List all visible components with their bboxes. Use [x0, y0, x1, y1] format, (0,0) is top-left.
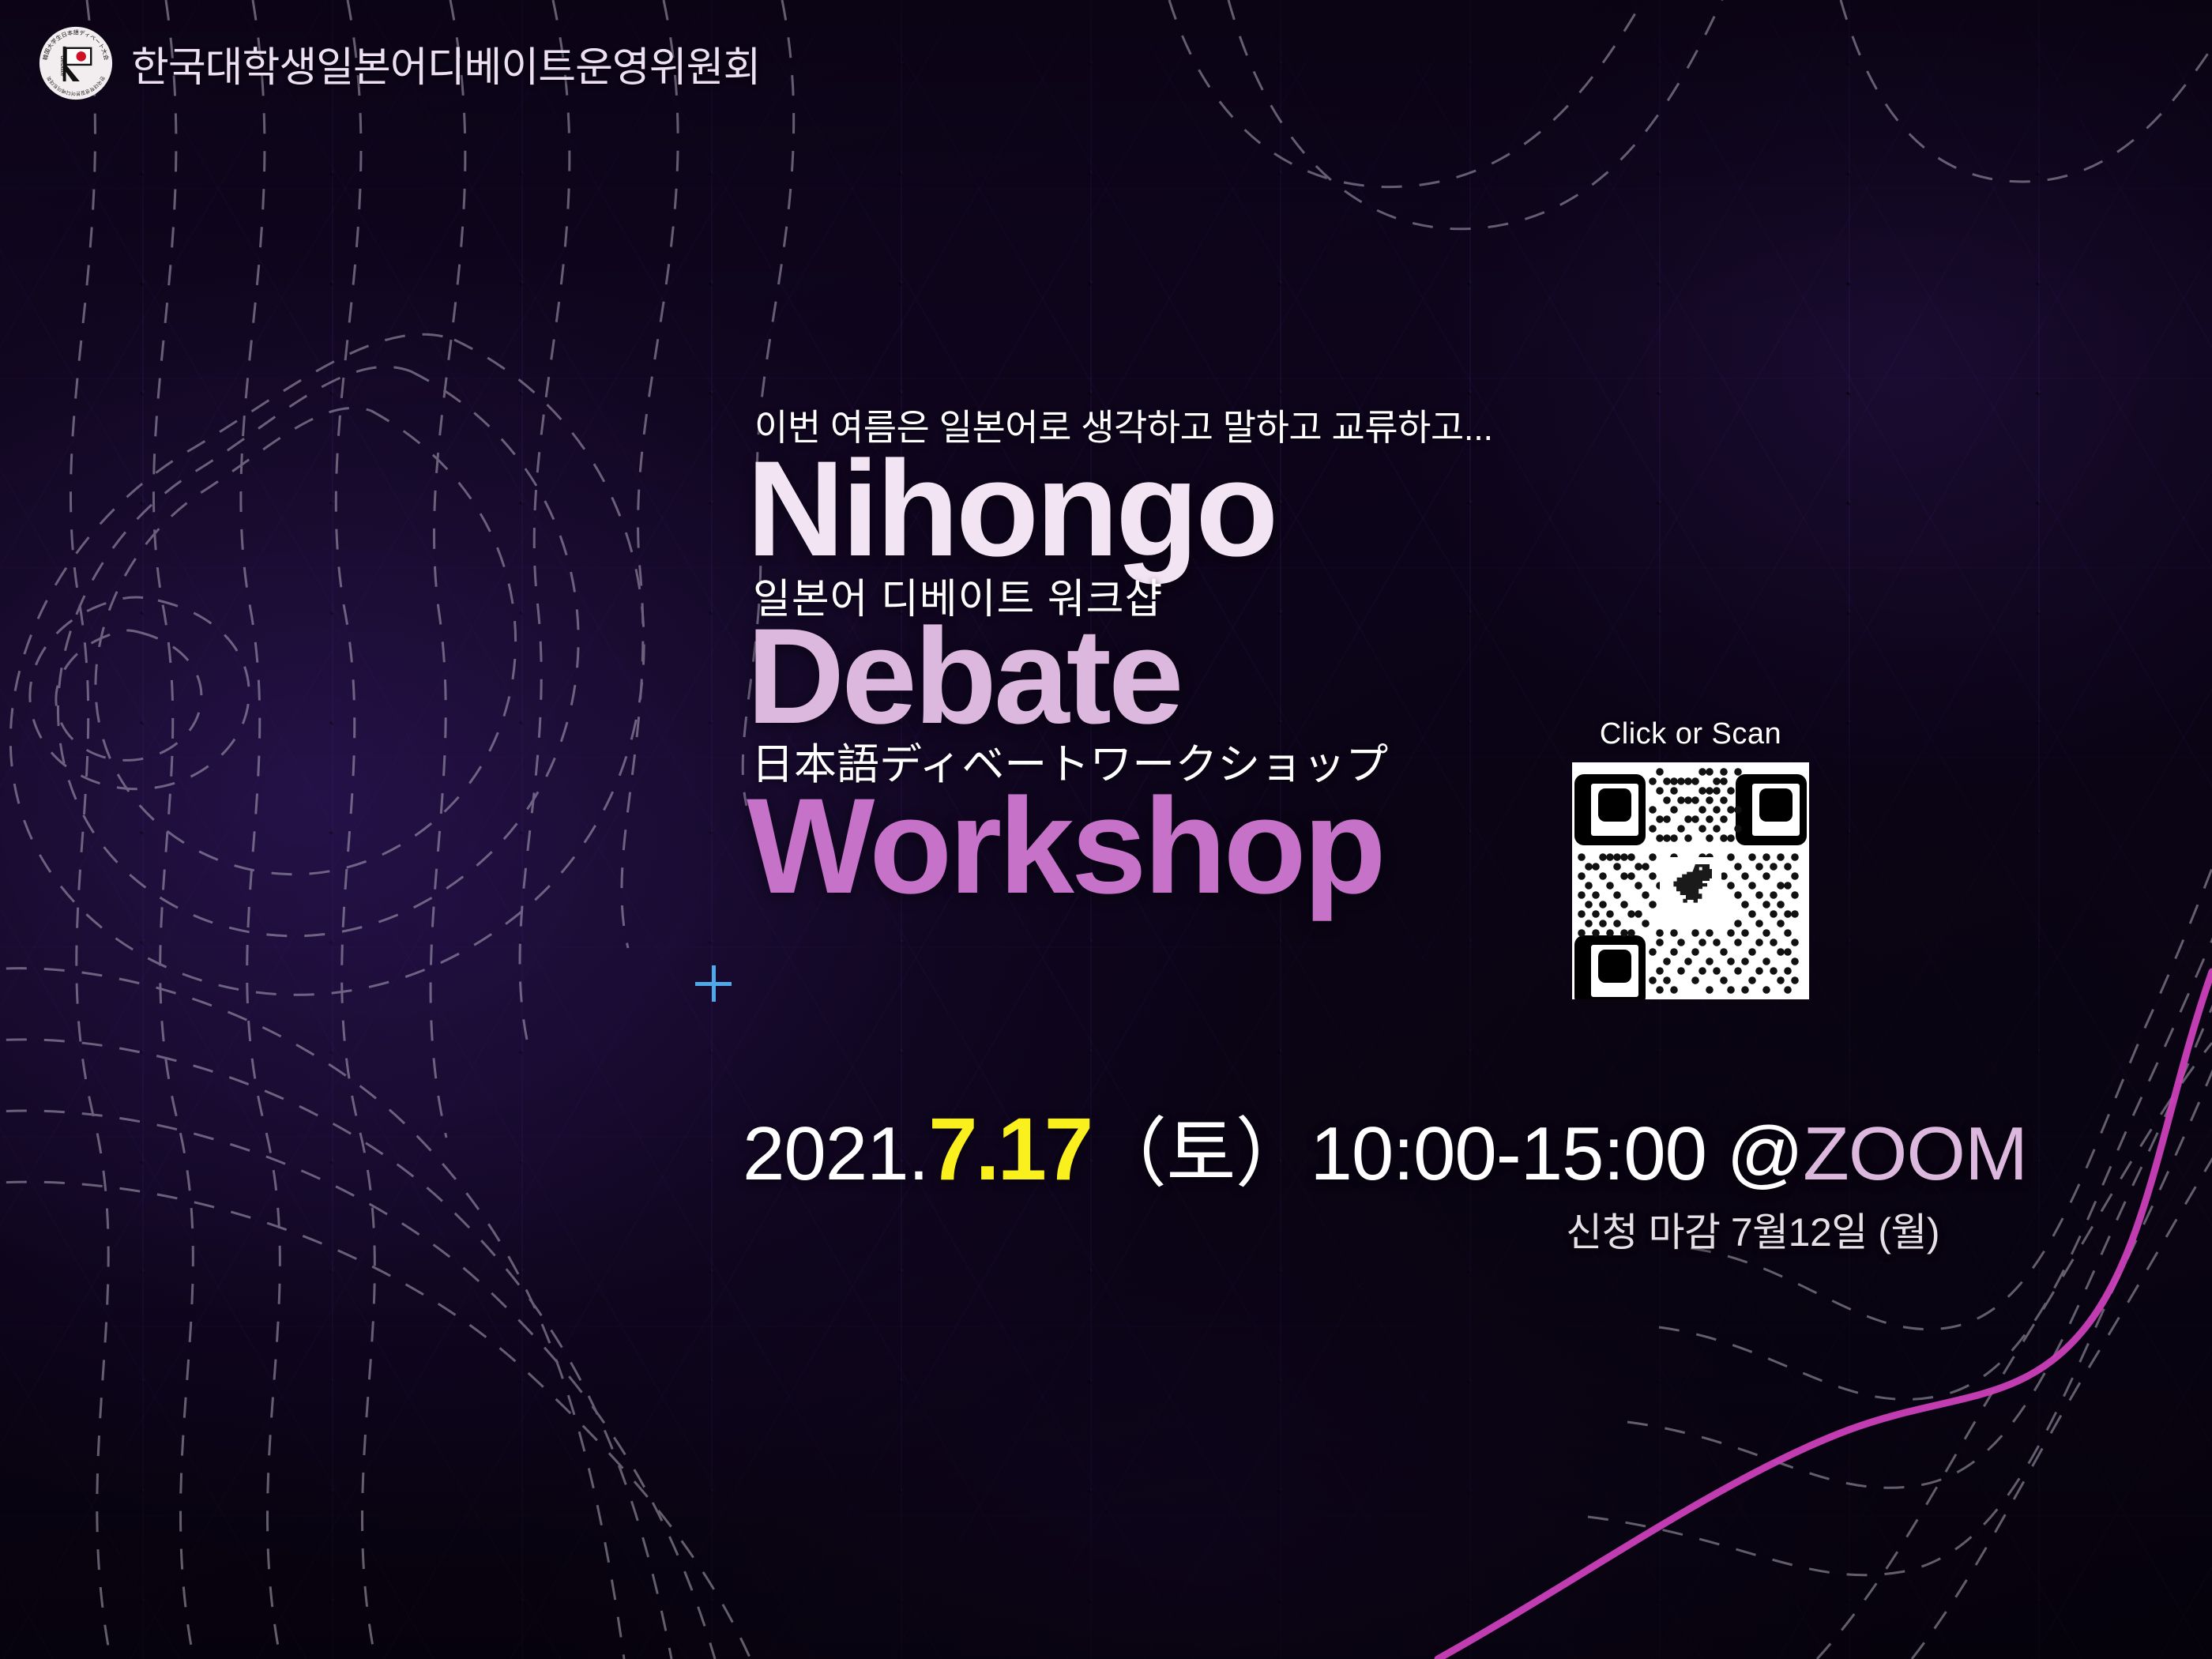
event-time-place: （토）10:00-15:00 @ [1091, 1112, 1803, 1196]
qr-block[interactable]: Click or Scan [1568, 717, 1813, 999]
event-date-accent: 7.17 [928, 1100, 1091, 1198]
plus-crosshair-icon [695, 965, 732, 1002]
title-line-workshop: Workshop [747, 782, 1493, 911]
poster-header: 韓国大学生日本語ディベート大会 한국대학생일본어디베이트대회 debate 한국… [38, 25, 760, 101]
title-block: 이번 여름은 일본어로 생각하고 말하고 교류하고... Nihongo 일본어… [747, 399, 1493, 911]
title-line-nihongo: Nihongo [747, 445, 1493, 574]
application-deadline: 신청 마감 7월12일 (월) [1566, 1201, 1939, 1258]
svg-text:debate: debate [59, 55, 67, 77]
debate-circle-logo-icon: 韓国大学生日本語ディベート大会 한국대학생일본어디베이트대회 debate [38, 25, 114, 101]
title-line-debate: Debate [747, 612, 1493, 741]
event-platform: ZOOM [1803, 1112, 2027, 1196]
qr-code[interactable] [1572, 762, 1809, 999]
poster-canvas: 韓国大学生日本語ディベート大会 한국대학생일본어디베이트대회 debate 한국… [0, 0, 2212, 1659]
organization-name: 한국대학생일본어디베이트운영위원회 [131, 34, 760, 93]
qr-caption: Click or Scan [1568, 717, 1813, 751]
event-year: 2021. [743, 1112, 928, 1196]
event-date-line: 2021.7.17（토）10:00-15:00 @ZOOM [743, 1092, 2027, 1202]
